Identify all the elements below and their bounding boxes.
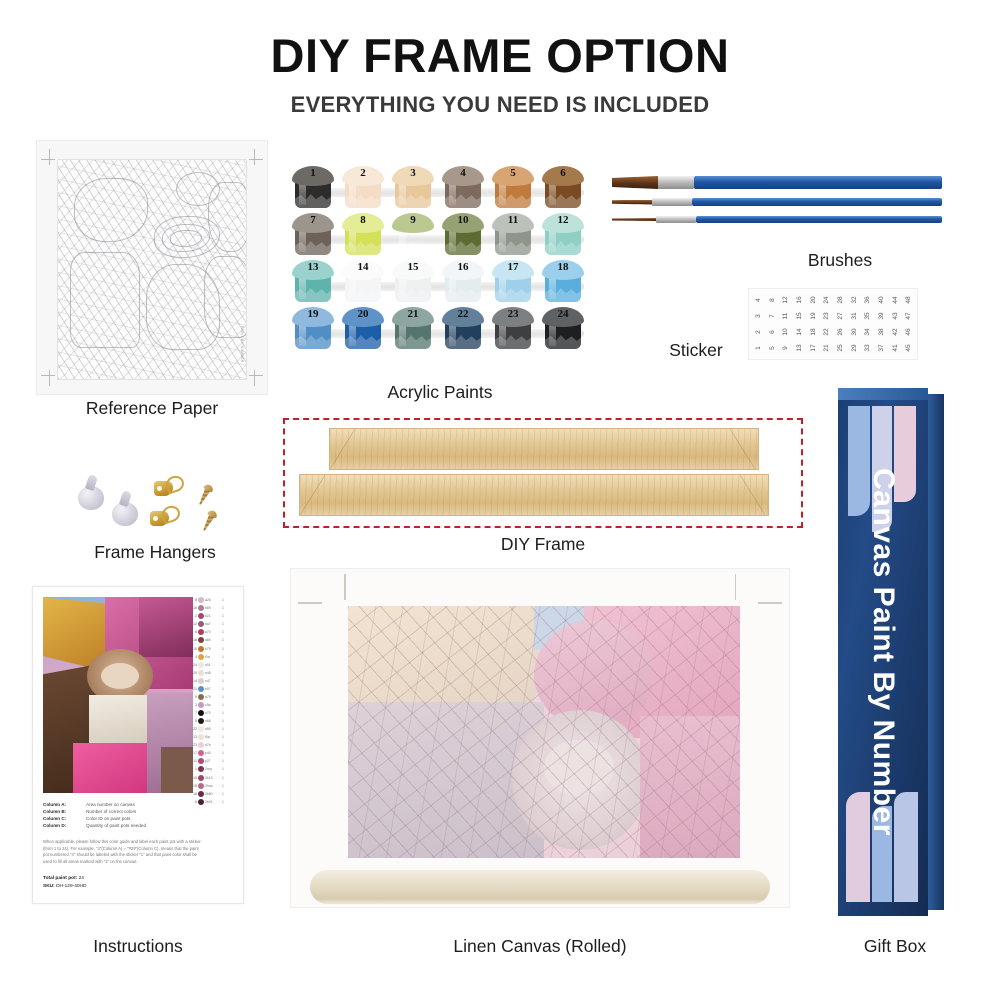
- paint-pot: 1: [292, 166, 334, 210]
- color-chart-area: 18: [189, 638, 197, 642]
- color-chart-code: n47: [205, 679, 221, 683]
- column-legend-key: Column D:: [43, 822, 81, 829]
- paint-pot-row: 789101112: [292, 213, 588, 257]
- liner-brush: [612, 216, 942, 223]
- paint-pot: 4: [442, 166, 484, 210]
- sticker-number: 47: [900, 309, 916, 323]
- color-chart-code: 2b01: [205, 800, 221, 804]
- paint-pot-number: 15: [392, 261, 434, 273]
- color-chart-row: 23d7b1: [189, 742, 235, 748]
- caption-diy-frame: DIY Frame: [283, 534, 803, 555]
- color-chart-area: 2: [189, 614, 197, 618]
- color-chart-row: 12mq1: [189, 766, 235, 772]
- color-chart-code: 2mq: [205, 767, 221, 771]
- total-paint-pot-value: 24: [79, 876, 84, 881]
- caption-sticker: Sticker: [648, 340, 744, 361]
- instructions-sheet-image: 8a26116b8912b21112ba716a70118a80110b7914…: [32, 586, 244, 904]
- gift-box-image: Canvas Paint By Number: [838, 388, 944, 916]
- color-chart-area: 16: [189, 792, 197, 796]
- paint-pot: 5: [492, 166, 534, 210]
- color-chart-qty: 1: [222, 638, 227, 642]
- color-chart-area: 20: [189, 671, 197, 675]
- color-chart-code: f0a: [205, 655, 221, 659]
- sticker-number: 46: [900, 325, 916, 339]
- flat-brush: [612, 176, 942, 189]
- color-chart-row: 21b071: [189, 686, 235, 692]
- color-chart-row: 24n011: [189, 662, 235, 668]
- color-chart-row: 14n471: [189, 678, 235, 684]
- color-chart-qty: 1: [222, 784, 227, 788]
- plastic-hanger-icon: [78, 486, 104, 510]
- color-chart-code: n70: [205, 711, 221, 715]
- color-chart-swatch: [198, 702, 204, 708]
- brushes-group: [612, 176, 942, 240]
- color-chart-swatch: [198, 766, 204, 772]
- paint-pot: 20: [342, 307, 384, 351]
- paint-pot: 18: [542, 260, 584, 304]
- color-chart-row: 16b891: [189, 605, 235, 611]
- color-chart-area: 7: [189, 711, 197, 715]
- color-chart-code: b07: [205, 687, 221, 691]
- paint-pot-number: 19: [292, 308, 334, 320]
- paint-pot: 9: [392, 213, 434, 257]
- paint-pot: 15: [392, 260, 434, 304]
- paint-pot-number: 16: [442, 261, 484, 273]
- color-chart-qty: 1: [222, 759, 227, 763]
- color-chart-code: 2b80: [205, 792, 221, 796]
- paint-pot-number: 17: [492, 261, 534, 273]
- color-chart-qty: 1: [222, 792, 227, 796]
- color-chart-swatch: [198, 710, 204, 716]
- caption-acrylic-paints: Acrylic Paints: [292, 382, 588, 403]
- color-chart-row: 8a261: [189, 597, 235, 603]
- color-chart-code: b21: [205, 614, 221, 618]
- color-chart-area: 6: [189, 630, 197, 634]
- color-chart-area: 13: [189, 735, 197, 739]
- color-chart-qty: 1: [222, 655, 227, 659]
- paint-pot-row: 131415161718: [292, 260, 588, 304]
- sticker-number: 48: [900, 293, 916, 307]
- color-chart-code: n55: [205, 727, 221, 731]
- column-legend-key: Column A:: [43, 801, 81, 808]
- color-chart-area: 22: [189, 727, 197, 731]
- paint-pot: 2: [342, 166, 384, 210]
- color-chart-qty: 1: [222, 703, 227, 707]
- color-chart-code: a80: [205, 638, 221, 642]
- page-subtitle: EVERYTHING YOU NEED IS INCLUDED: [0, 92, 1000, 118]
- color-chart-area: 15: [189, 784, 197, 788]
- color-chart-area: 14: [189, 679, 197, 683]
- color-chart-area: 23: [189, 743, 197, 747]
- color-chart-row: 3c9a1: [189, 702, 235, 708]
- color-chart-row: 11p271: [189, 758, 235, 764]
- paint-pot-number: 6: [542, 167, 584, 179]
- paint-pot-number: 9: [392, 214, 434, 226]
- color-chart-area: 11: [189, 759, 197, 763]
- color-chart-swatch: [198, 654, 204, 660]
- paint-pot: 22: [442, 307, 484, 351]
- color-chart-swatch: [198, 613, 204, 619]
- paint-pot-number: 23: [492, 308, 534, 320]
- color-chart-code: a70: [205, 630, 221, 634]
- canvas-line-art: [348, 606, 740, 858]
- color-chart-swatch: [198, 783, 204, 789]
- color-chart-area: 17: [189, 751, 197, 755]
- instructions-totals: Total paint pot: 24 SKU: DH-129-40HD: [43, 875, 86, 891]
- paint-pot-row: 123456: [292, 166, 588, 210]
- color-chart-qty: 1: [222, 647, 227, 651]
- paint-pot-number: 10: [442, 214, 484, 226]
- color-chart-swatch: [198, 791, 204, 797]
- color-chart-qty: 1: [222, 695, 227, 699]
- color-chart-code: d7b: [205, 743, 221, 747]
- color-chart-qty: 1: [222, 735, 227, 739]
- paint-pot-number: 3: [392, 167, 434, 179]
- color-chart-qty: 1: [222, 598, 227, 602]
- color-chart-swatch: [198, 678, 204, 684]
- color-chart-swatch: [198, 726, 204, 732]
- color-chart-qty: 1: [222, 767, 227, 771]
- color-chart-qty: 1: [222, 679, 227, 683]
- color-chart-code: a26: [205, 598, 221, 602]
- color-chart-area: 10: [189, 647, 197, 651]
- paint-pot: 17: [492, 260, 534, 304]
- frame-hangers-group: [70, 468, 240, 538]
- caption-brushes: Brushes: [760, 250, 920, 271]
- color-chart-code: b79: [205, 647, 221, 651]
- product-infographic: DIY FRAME OPTION EVERYTHING YOU NEED IS …: [0, 0, 1000, 1000]
- paint-pot-number: 21: [392, 308, 434, 320]
- color-chart-row: 9a751: [189, 694, 235, 700]
- paint-pot: 16: [442, 260, 484, 304]
- color-chart-area: 1: [189, 767, 197, 771]
- color-chart-row: 152fma1: [189, 782, 235, 788]
- color-chart-swatch: [198, 758, 204, 764]
- color-chart-swatch: [198, 686, 204, 692]
- color-chart-code: ba7: [205, 622, 221, 626]
- color-chart-code: n66: [205, 719, 221, 723]
- column-legend-value: Area number on canvas: [86, 801, 135, 808]
- color-chart-qty: 1: [222, 614, 227, 618]
- color-chart-qty: 1: [222, 622, 227, 626]
- sku-label: SKU:: [43, 884, 55, 889]
- color-chart-swatch: [198, 605, 204, 611]
- color-chart-qty: 1: [222, 711, 227, 715]
- d-ring-hanger-icon: [150, 506, 180, 530]
- color-chart-swatch: [198, 670, 204, 676]
- paint-pot-rail: [296, 329, 584, 338]
- color-chart-area: 21: [189, 687, 197, 691]
- paint-pot: 23: [492, 307, 534, 351]
- paint-pot-row: 192021222324: [292, 307, 588, 351]
- color-chart-qty: 1: [222, 719, 227, 723]
- color-chart-qty: 1: [222, 671, 227, 675]
- color-chart-row: 162b801: [189, 791, 235, 797]
- paint-pot-number: 22: [442, 308, 484, 320]
- color-chart-code: 2b13: [205, 776, 221, 780]
- paint-pot: 10: [442, 213, 484, 257]
- paint-pot: 6: [542, 166, 584, 210]
- paint-pot-number: 18: [542, 261, 584, 273]
- color-chart-row: 20n481: [189, 670, 235, 676]
- color-chart-code: n48: [205, 671, 221, 675]
- color-chart-area: 4: [189, 655, 197, 659]
- paint-pot: 11: [492, 213, 534, 257]
- color-chart-swatch: [198, 718, 204, 724]
- paint-pot-rail: [296, 282, 584, 291]
- instructions-column-legend: Column A:Area number on canvasColumn B:N…: [43, 801, 203, 829]
- paint-pot-number: 14: [342, 261, 384, 273]
- color-chart-qty: 1: [222, 743, 227, 747]
- color-chart-row: 13f5a1: [189, 734, 235, 740]
- column-legend-line: Column B:Number of correct colors: [43, 808, 203, 815]
- paint-pot-rail: [296, 188, 584, 197]
- color-chart-qty: 1: [222, 663, 227, 667]
- color-chart-row: 5n661: [189, 718, 235, 724]
- total-paint-pot-label: Total paint pot:: [43, 876, 77, 881]
- paint-pot-rail: [296, 235, 584, 244]
- color-chart-swatch: [198, 637, 204, 643]
- color-chart-area: 8: [189, 598, 197, 602]
- gift-box-front: Canvas Paint By Number: [838, 388, 928, 916]
- color-chart-swatch: [198, 597, 204, 603]
- color-chart-qty: 1: [222, 630, 227, 634]
- paint-pot-number: 11: [492, 214, 534, 226]
- instructions-note: When applicable, please follow this colo…: [43, 839, 203, 865]
- color-chart-row: 4f0a1: [189, 653, 235, 659]
- paint-pot-number: 2: [342, 167, 384, 179]
- column-legend-line: Column D:Quantity of paint pots needed: [43, 822, 203, 829]
- color-chart-swatch: [198, 750, 204, 756]
- color-chart-swatch: [198, 646, 204, 652]
- color-chart-row: 192b131: [189, 774, 235, 780]
- color-chart-area: 9: [189, 695, 197, 699]
- caption-linen-canvas: Linen Canvas (Rolled): [290, 936, 790, 957]
- color-chart-area: 24: [189, 663, 197, 667]
- diy-frame-image: [283, 418, 803, 528]
- acrylic-paints-group: 123456789101112131415161718192021222324: [292, 166, 588, 356]
- caption-gift-box: Gift Box: [830, 936, 960, 957]
- paint-pot-number: 24: [542, 308, 584, 320]
- reference-paper-image: PAINT BY NUMBER: [36, 140, 268, 395]
- color-chart-code: 2fma: [205, 784, 221, 788]
- color-chart-row: 7n701: [189, 710, 235, 716]
- plastic-hanger-icon: [112, 502, 138, 526]
- paint-pot-number: 4: [442, 167, 484, 179]
- color-chart-code: a75: [205, 695, 221, 699]
- page-title: DIY FRAME OPTION: [0, 28, 1000, 83]
- color-chart-swatch: [198, 775, 204, 781]
- column-legend-key: Column B:: [43, 808, 81, 815]
- wood-bar: [299, 474, 769, 516]
- color-chart-area: 16: [189, 606, 197, 610]
- color-chart-code: p40: [205, 751, 221, 755]
- color-chart-swatch: [198, 734, 204, 740]
- color-chart-area: 19: [189, 776, 197, 780]
- screw-icon: [199, 509, 218, 533]
- reference-line-art: PAINT BY NUMBER: [57, 159, 247, 380]
- color-chart-qty: 1: [222, 687, 227, 691]
- paint-pot-number: 5: [492, 167, 534, 179]
- sticker-sheet-image: 4812162024283236404448371115192327313539…: [748, 288, 918, 360]
- caption-instructions: Instructions: [32, 936, 244, 957]
- instructions-color-chart: 8a26116b8912b21112ba716a70118a80110b7914…: [189, 597, 235, 805]
- column-legend-key: Column C:: [43, 815, 81, 822]
- color-chart-qty: 1: [222, 776, 227, 780]
- color-chart-qty: 1: [222, 606, 227, 610]
- color-chart-swatch: [198, 621, 204, 627]
- color-chart-swatch: [198, 694, 204, 700]
- color-chart-qty: 1: [222, 800, 227, 804]
- round-brush: [612, 198, 942, 206]
- caption-frame-hangers: Frame Hangers: [60, 542, 250, 563]
- screw-icon: [195, 483, 214, 507]
- paint-pot: 21: [392, 307, 434, 351]
- column-legend-value: Number of correct colors: [86, 808, 136, 815]
- paint-pot: 12: [542, 213, 584, 257]
- column-legend-line: Column C:Color ID on paint pots: [43, 815, 203, 822]
- column-legend-line: Column A:Area number on canvas: [43, 801, 203, 808]
- paint-pot: 19: [292, 307, 334, 351]
- wood-bar: [329, 428, 759, 470]
- gift-box-label: Canvas Paint By Number: [838, 388, 928, 916]
- d-ring-hanger-icon: [154, 476, 184, 500]
- paint-pot-number: 12: [542, 214, 584, 226]
- sku-value: DH-129-40HD: [56, 884, 86, 889]
- color-chart-row: 22n551: [189, 726, 235, 732]
- paint-pot-number: 13: [292, 261, 334, 273]
- color-chart-row: 10b791: [189, 645, 235, 651]
- color-chart-code: b89: [205, 606, 221, 610]
- color-chart-area: 12: [189, 622, 197, 626]
- color-chart-code: p27: [205, 759, 221, 763]
- column-legend-value: Color ID on paint pots: [86, 815, 130, 822]
- linen-canvas-image: [290, 568, 790, 908]
- color-chart-code: f5a: [205, 735, 221, 739]
- paint-pot: 7: [292, 213, 334, 257]
- paint-pot: 14: [342, 260, 384, 304]
- column-legend-value: Quantity of paint pots needed: [86, 822, 146, 829]
- color-chart-row: 6a701: [189, 629, 235, 635]
- color-chart-qty: 1: [222, 727, 227, 731]
- paint-pot-number: 20: [342, 308, 384, 320]
- instructions-artwork-preview: [43, 597, 193, 793]
- color-chart-row: 18a801: [189, 637, 235, 643]
- color-chart-qty: 1: [222, 751, 227, 755]
- canvas-rolled-edge: [310, 870, 770, 904]
- paint-pot: 24: [542, 307, 584, 351]
- color-chart-row: 2b211: [189, 613, 235, 619]
- color-chart-swatch: [198, 742, 204, 748]
- color-chart-row: 12ba71: [189, 621, 235, 627]
- sticker-number: 45: [900, 341, 916, 355]
- color-chart-row: 17p401: [189, 750, 235, 756]
- color-chart-area: 5: [189, 719, 197, 723]
- reference-sidenote: PAINT BY NUMBER: [240, 326, 244, 363]
- paint-pot: 13: [292, 260, 334, 304]
- paint-pot-number: 8: [342, 214, 384, 226]
- color-chart-swatch: [198, 662, 204, 668]
- paint-pot: 8: [342, 213, 384, 257]
- paint-pot-number: 7: [292, 214, 334, 226]
- color-chart-swatch: [198, 629, 204, 635]
- color-chart-area: 3: [189, 703, 197, 707]
- color-chart-code: c9a: [205, 703, 221, 707]
- paint-pot: 3: [392, 166, 434, 210]
- paint-pot-number: 1: [292, 167, 334, 179]
- color-chart-code: n01: [205, 663, 221, 667]
- caption-reference-paper: Reference Paper: [36, 398, 268, 419]
